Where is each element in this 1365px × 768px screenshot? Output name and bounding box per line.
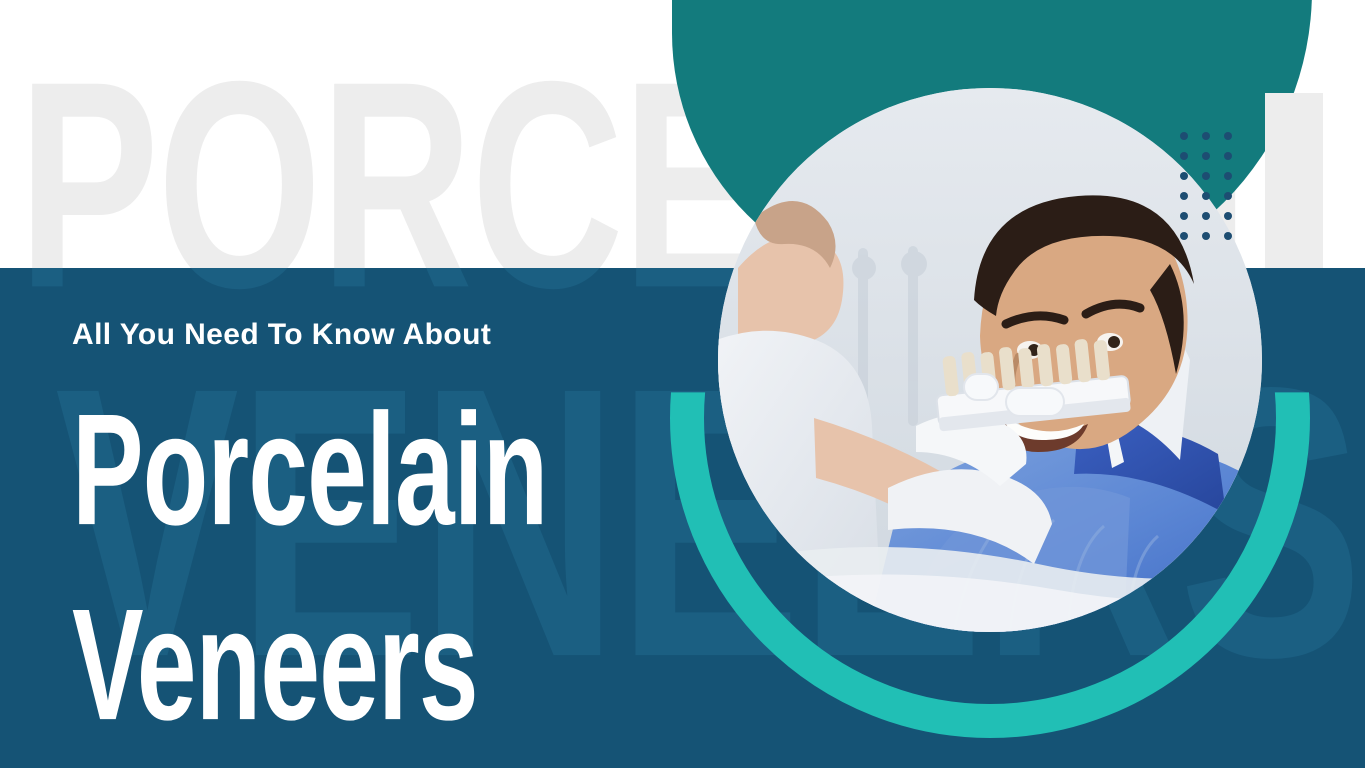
dot [1180, 232, 1188, 240]
dot [1224, 232, 1232, 240]
dot [1180, 152, 1188, 160]
dot [1202, 212, 1210, 220]
slide-canvas: PORCELAIN VENEERS PORCELAIN VENEERS [0, 0, 1365, 768]
dot [1202, 172, 1210, 180]
dot [1224, 132, 1232, 140]
dot [1224, 212, 1232, 220]
dot [1224, 172, 1232, 180]
headline-line-1: Porcelain [72, 372, 635, 567]
dot [1180, 192, 1188, 200]
eyebrow-text: All You Need To Know About [72, 318, 491, 352]
dot [1180, 132, 1188, 140]
dot [1180, 212, 1188, 220]
dot [1224, 192, 1232, 200]
dot [1202, 232, 1210, 240]
dot [1180, 172, 1188, 180]
dot [1202, 132, 1210, 140]
dot [1224, 152, 1232, 160]
dot [1202, 192, 1210, 200]
headline-line-2: Veneers [72, 567, 635, 762]
dot [1202, 152, 1210, 160]
dot-grid-decoration [1180, 132, 1246, 252]
headline: Porcelain Veneers [72, 372, 635, 762]
